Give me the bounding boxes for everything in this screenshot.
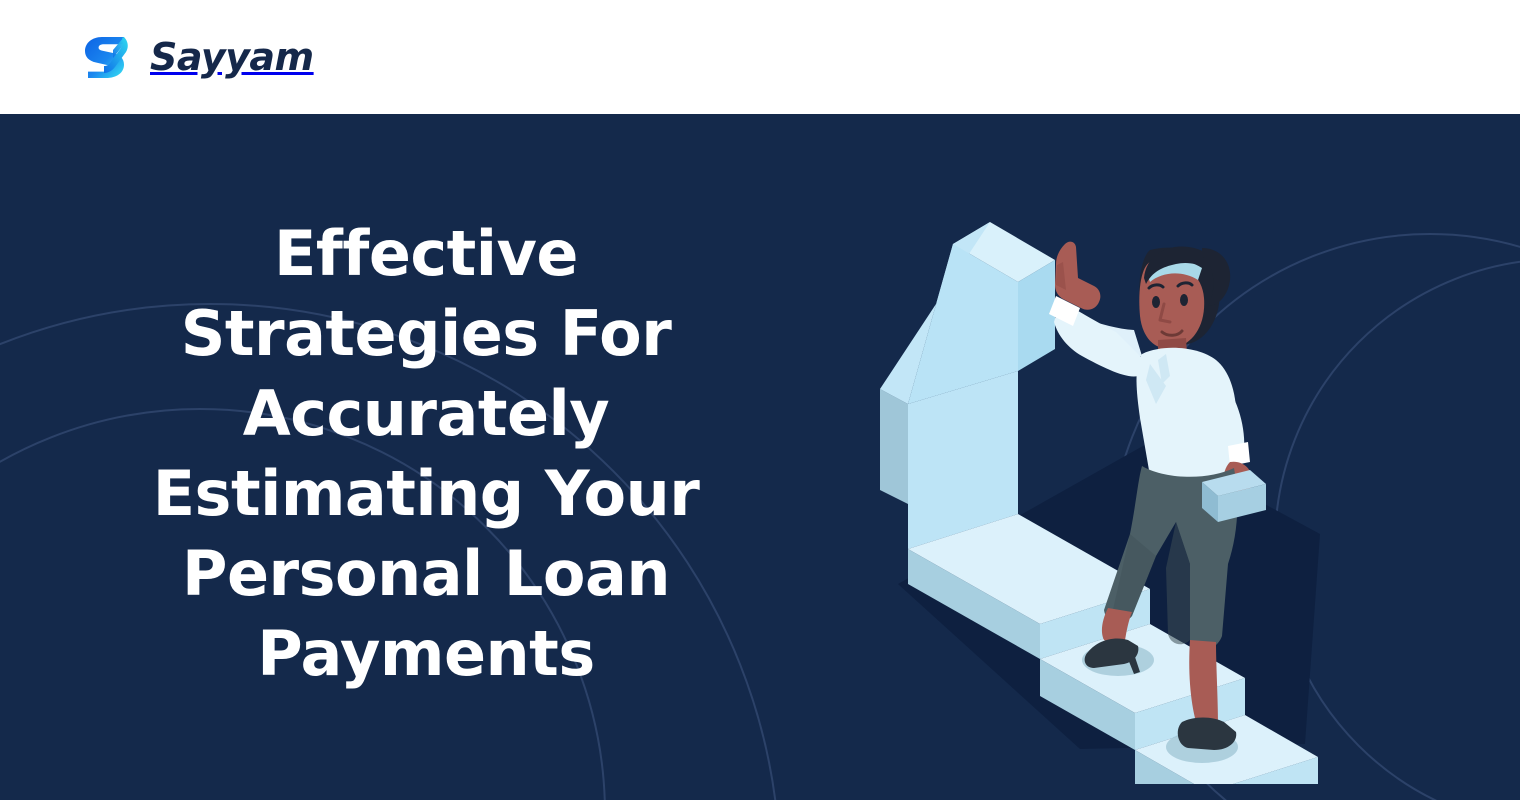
hero-illustration xyxy=(850,204,1350,784)
brand-name: Sayyam xyxy=(150,35,314,79)
page-title: Effective Strategies For Accurately Esti… xyxy=(130,214,722,694)
hero-section: Effective Strategies For Accurately Esti… xyxy=(0,114,1520,800)
sayyam-s-logo-icon xyxy=(82,31,134,83)
site-header: Sayyam xyxy=(0,0,1520,114)
brand-logo-link[interactable]: Sayyam xyxy=(82,31,314,83)
hero-page: Sayyam Effective Strategies For Accurate… xyxy=(0,0,1520,800)
